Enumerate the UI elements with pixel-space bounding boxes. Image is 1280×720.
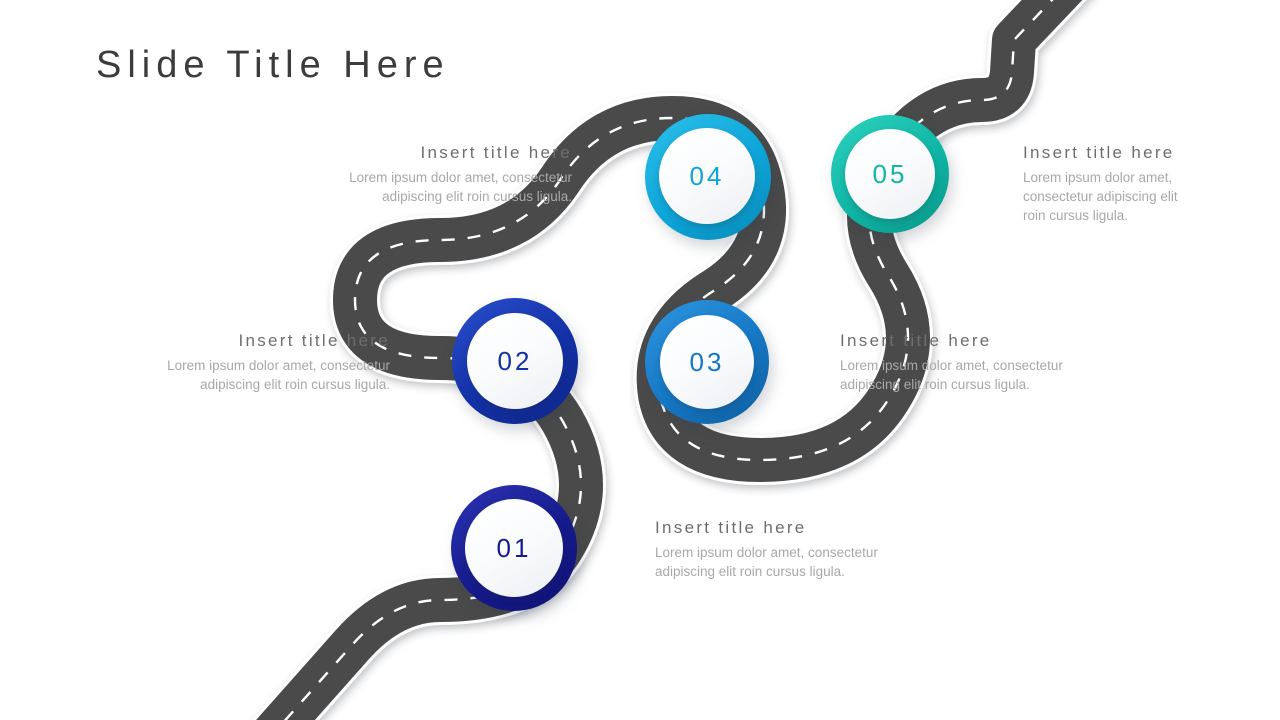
step-desc-line-2: consectetur adipiscing elit [1023, 187, 1223, 206]
step-title-02: Insert title here [90, 331, 390, 351]
step-number-02: 02 [498, 346, 533, 377]
step-inner-disc-03: 03 [660, 315, 754, 409]
step-desc-line-1: Lorem ipsum dolor amet, consectetur [272, 168, 572, 187]
step-desc-line-1: Lorem ipsum dolor amet, [1023, 168, 1223, 187]
step-number-01: 01 [497, 533, 532, 564]
step-desc-line-1: Lorem ipsum dolor amet, consectetur [655, 543, 955, 562]
step-text-02: Insert title here Lorem ipsum dolor amet… [90, 331, 390, 394]
step-inner-disc-02: 02 [467, 313, 563, 409]
step-desc-line-2: adipiscing elit roin cursus ligula. [655, 562, 955, 581]
step-title-04: Insert title here [272, 143, 572, 163]
step-inner-disc-05: 05 [845, 129, 935, 219]
slide-canvas: Slide Title Here 01 Insert title here Lo… [0, 0, 1280, 720]
step-node-02[interactable]: 02 [452, 298, 578, 424]
step-desc-01: Lorem ipsum dolor amet, consectetur adip… [655, 543, 955, 581]
step-text-03: Insert title here Lorem ipsum dolor amet… [840, 331, 1140, 394]
step-text-01: Insert title here Lorem ipsum dolor amet… [655, 518, 955, 581]
step-desc-line-1: Lorem ipsum dolor amet, consectetur [90, 356, 390, 375]
step-number-03: 03 [690, 347, 725, 378]
step-text-05: Insert title here Lorem ipsum dolor amet… [1023, 143, 1223, 225]
step-title-03: Insert title here [840, 331, 1140, 351]
step-desc-02: Lorem ipsum dolor amet, consectetur adip… [90, 356, 390, 394]
step-inner-disc-04: 04 [659, 128, 755, 224]
step-desc-line-1: Lorem ipsum dolor amet, consectetur [840, 356, 1140, 375]
step-desc-line-3: roin cursus ligula. [1023, 206, 1223, 225]
step-desc-04: Lorem ipsum dolor amet, consectetur adip… [272, 168, 572, 206]
step-number-04: 04 [690, 161, 725, 192]
step-desc-line-2: adipiscing elit roin cursus ligula. [840, 375, 1140, 394]
step-node-05[interactable]: 05 [831, 115, 949, 233]
step-title-05: Insert title here [1023, 143, 1223, 163]
step-node-04[interactable]: 04 [645, 114, 771, 240]
step-desc-line-2: adipiscing elit roin cursus ligula. [272, 187, 572, 206]
step-node-03[interactable]: 03 [645, 300, 769, 424]
step-number-05: 05 [873, 159, 908, 190]
step-inner-disc-01: 01 [465, 499, 563, 597]
step-title-01: Insert title here [655, 518, 955, 538]
step-desc-03: Lorem ipsum dolor amet, consectetur adip… [840, 356, 1140, 394]
step-desc-05: Lorem ipsum dolor amet, consectetur adip… [1023, 168, 1223, 225]
step-text-04: Insert title here Lorem ipsum dolor amet… [272, 143, 572, 206]
step-node-01[interactable]: 01 [451, 485, 577, 611]
step-desc-line-2: adipiscing elit roin cursus ligula. [90, 375, 390, 394]
